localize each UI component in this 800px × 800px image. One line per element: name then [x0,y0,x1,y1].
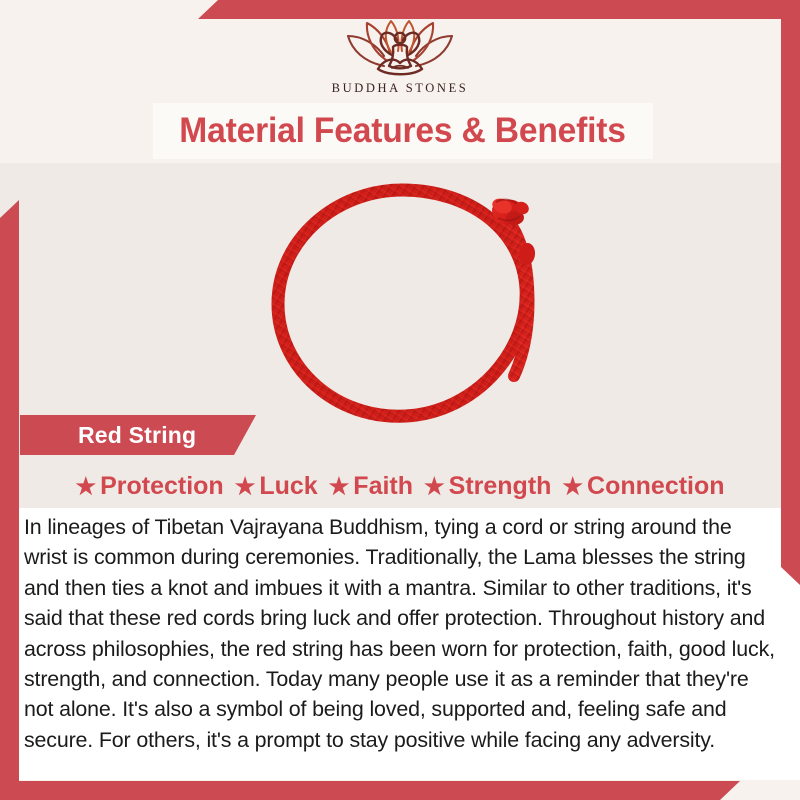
feature-label: Faith [353,472,413,501]
brand-name: BUDDHA STONES [332,81,469,96]
product-tag: Red String [20,415,256,455]
feature-item-protection: ★ Protection [75,472,223,501]
description-text: In lineages of Tibetan Vajrayana Buddhis… [24,512,780,755]
decorative-frame-bottom [0,781,740,800]
lotus-meditating-figure-icon [334,14,466,80]
feature-item-faith: ★ Faith [329,472,413,501]
feature-item-luck: ★ Luck [235,472,318,501]
product-tag-label: Red String [78,422,196,449]
infographic-poster: BUDDHA STONES Material Features & Benefi… [0,0,800,800]
feature-label: Strength [449,472,552,501]
feature-label: Luck [259,472,317,501]
product-photo [230,168,575,438]
page-title: Material Features & Benefits [180,111,627,151]
feature-list: ★ Protection ★ Luck ★ Faith ★ Strength ★… [0,465,800,507]
star-icon: ★ [235,475,256,498]
star-icon: ★ [75,475,96,498]
title-banner: Material Features & Benefits [153,103,653,159]
star-icon: ★ [424,475,445,498]
feature-label: Connection [587,472,725,501]
feature-item-strength: ★ Strength [424,472,551,501]
star-icon: ★ [562,475,583,498]
star-icon: ★ [329,475,350,498]
feature-item-connection: ★ Connection [562,472,724,501]
feature-label: Protection [100,472,224,501]
brand-logo: BUDDHA STONES [0,14,800,96]
